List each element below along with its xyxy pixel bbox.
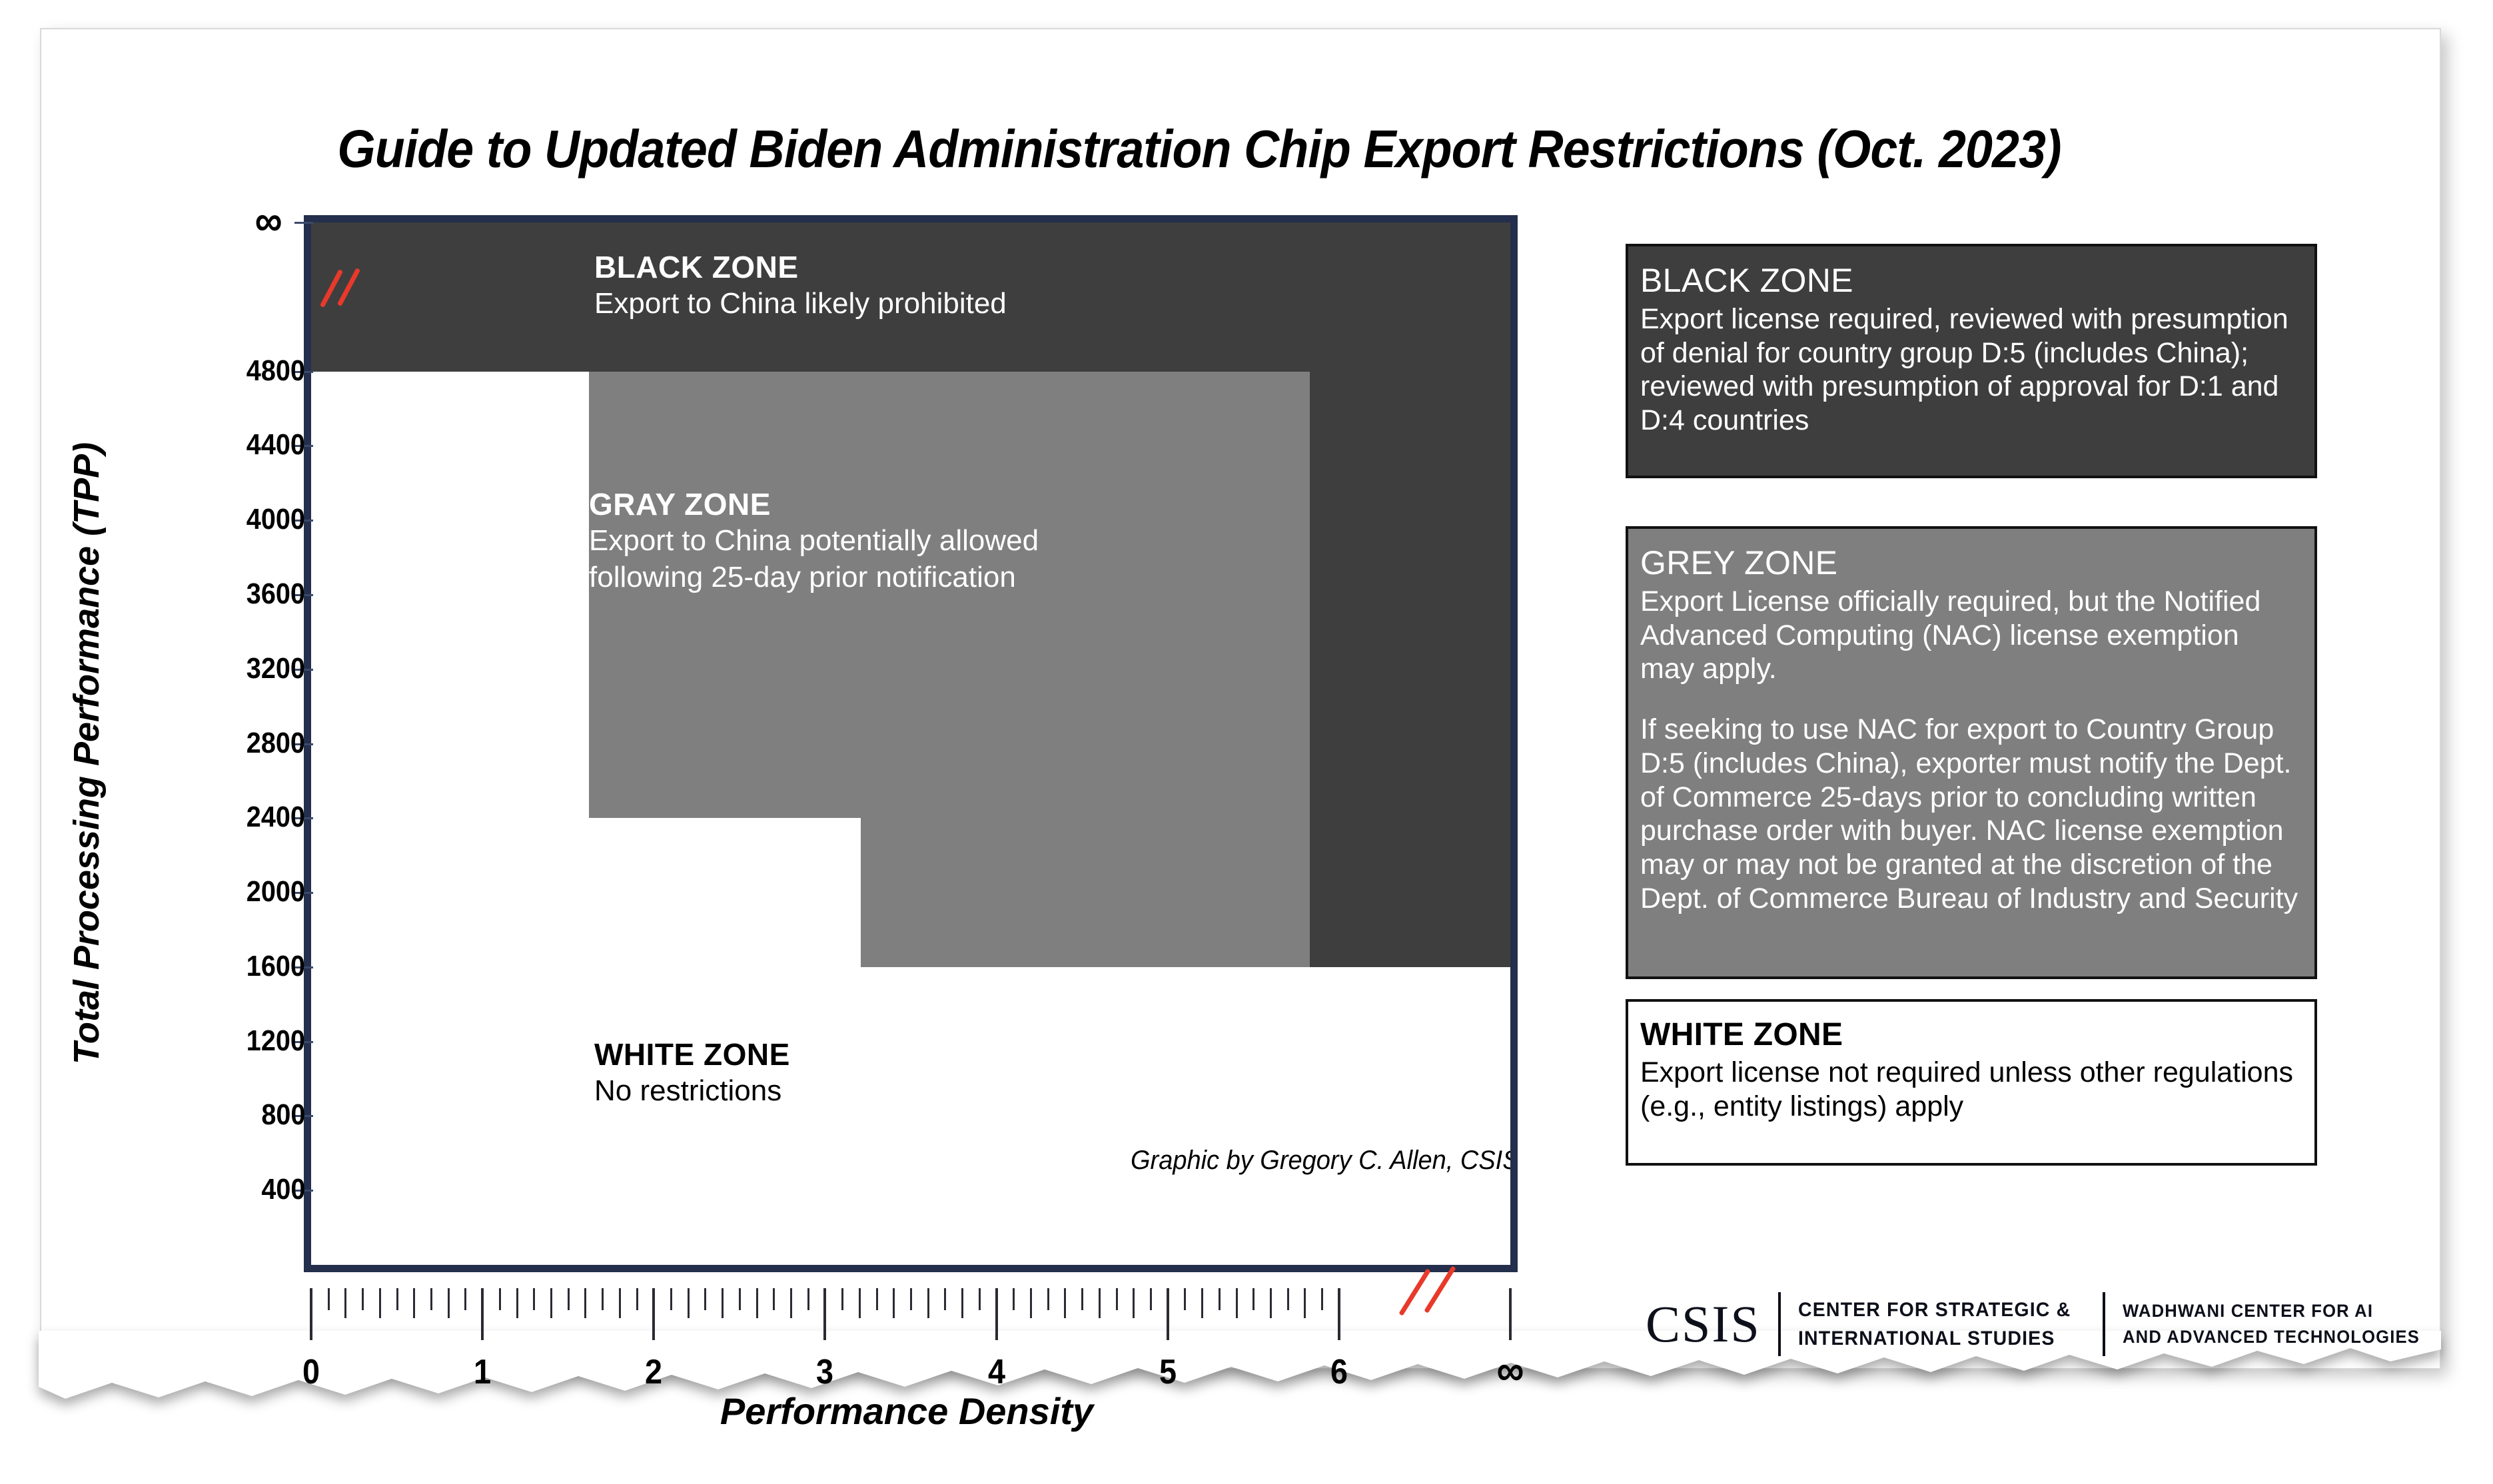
legend-card-white-zone: WHITE ZONE Export license not required u… [1626, 999, 2317, 1166]
x-minor-tick [550, 1288, 552, 1318]
x-minor-tick [636, 1288, 638, 1310]
poster-page: Guide to Updated Biden Administration Ch… [0, 0, 2493, 1484]
x-tick-label-infinity: ∞ [1496, 1345, 1524, 1395]
x-minor-tick [773, 1288, 775, 1310]
legend-card-grey-zone: GREY ZONE Export License officially requ… [1626, 526, 2317, 979]
zone-gray-text-line2: following 25-day prior notification [589, 559, 1039, 595]
y-tick-label: 2000 [247, 875, 305, 909]
y-tick-label: 3200 [247, 652, 305, 685]
x-tick-label: 0 [302, 1352, 320, 1392]
x-tick-label: 1 [474, 1352, 491, 1392]
y-tick-label: 400 [261, 1173, 305, 1206]
x-minor-tick [1081, 1288, 1083, 1310]
x-minor-tick [739, 1288, 741, 1310]
graphic-credit: Graphic by Gregory C. Allen, CSIS [1131, 1146, 1510, 1176]
x-minor-tick [979, 1288, 981, 1310]
x-minor-tick [670, 1288, 672, 1310]
x-minor-tick [1184, 1288, 1186, 1310]
y-tick-label: 4800 [247, 354, 305, 388]
legend-card-black-heading: BLACK ZONE [1640, 261, 2314, 300]
legend-card-grey-heading: GREY ZONE [1640, 544, 2314, 582]
csis-logo-line-1: CENTER FOR STRATEGIC & [1798, 1296, 2071, 1325]
x-tick-label: 2 [645, 1352, 662, 1392]
legend-card-black-body: Export license required, reviewed with p… [1640, 302, 2300, 438]
zone-label-gray: GRAY ZONE Export to China potentially al… [589, 486, 1039, 596]
x-tick-label: 6 [1330, 1352, 1348, 1392]
chart-zones-container: BLACK ZONE Export to China likely prohib… [311, 222, 1510, 1265]
x-minor-tick [344, 1288, 346, 1318]
y-tick-label-infinity: ∞ [255, 196, 282, 245]
zone-gray-heading: GRAY ZONE [589, 486, 1039, 522]
x-tick-label: 5 [1159, 1352, 1177, 1392]
x-minor-tick [516, 1288, 518, 1318]
x-minor-tick [1013, 1288, 1015, 1310]
x-minor-tick [807, 1288, 809, 1310]
legend-card-grey-body-1: Export License officially required, but … [1640, 585, 2300, 686]
y-axis: 4008001200160020002400280032003600400044… [0, 215, 313, 1281]
x-minor-tick [876, 1288, 878, 1310]
x-minor-tick [1201, 1288, 1203, 1318]
x-minor-tick [328, 1288, 330, 1310]
zone-black-heading: BLACK ZONE [594, 249, 1007, 285]
x-minor-tick [1099, 1288, 1101, 1318]
y-axis-label: Total Processing Performance (TPP) [66, 320, 107, 1186]
csis-logo-line-2: INTERNATIONAL STUDIES [1798, 1324, 2071, 1353]
x-minor-tick [1321, 1288, 1323, 1310]
legend-card-grey-body-2: If seeking to use NAC for export to Coun… [1640, 713, 2300, 915]
x-minor-tick [568, 1288, 570, 1310]
y-tick-label: 4400 [247, 428, 305, 462]
legend-card-white-body: Export license not required unless other… [1640, 1056, 2300, 1123]
x-minor-tick [841, 1288, 843, 1310]
y-tick-label: 3600 [247, 577, 305, 611]
csis-logo-name-block: CENTER FOR STRATEGIC & INTERNATIONAL STU… [1798, 1296, 2085, 1353]
x-minor-tick [1252, 1288, 1254, 1310]
x-major-tick [823, 1288, 826, 1340]
x-axis-label: Performance Density [304, 1389, 1510, 1433]
zone-label-white: WHITE ZONE No restrictions [594, 1036, 790, 1109]
x-minor-tick [602, 1288, 604, 1310]
logo-divider-2 [2103, 1292, 2105, 1356]
x-minor-tick [961, 1288, 963, 1318]
x-minor-tick [1064, 1288, 1066, 1318]
x-minor-tick [1116, 1288, 1118, 1310]
x-minor-tick [910, 1288, 912, 1310]
zone-region-gray-zone-1 [861, 818, 1310, 967]
x-minor-tick [584, 1288, 586, 1318]
chart-plot-area: BLACK ZONE Export to China likely prohib… [304, 215, 1518, 1272]
zone-black-text: Export to China likely prohibited [594, 285, 1007, 322]
x-minor-tick [499, 1288, 501, 1310]
x-minor-tick [1287, 1288, 1289, 1310]
zone-gray-text-line1: Export to China potentially allowed [589, 522, 1039, 559]
wadhwani-center-block: WADHWANI CENTER FOR AI AND ADVANCED TECH… [2123, 1298, 2436, 1350]
csis-logo-acronym: CSIS [1646, 1298, 1761, 1350]
x-minor-tick [1236, 1288, 1238, 1318]
x-minor-tick [756, 1288, 758, 1318]
x-minor-tick [1047, 1288, 1049, 1310]
y-tick-label: 2800 [247, 727, 305, 760]
y-tick-label: 1600 [247, 950, 305, 983]
x-minor-tick [944, 1288, 946, 1310]
x-minor-tick [893, 1288, 895, 1318]
x-major-tick [1167, 1288, 1169, 1340]
x-major-tick [310, 1288, 312, 1340]
x-minor-tick [396, 1288, 398, 1310]
x-minor-tick [704, 1288, 706, 1310]
wadhwani-logo-line-1: WADHWANI CENTER FOR AI [2123, 1298, 2420, 1324]
x-tick-label: 3 [816, 1352, 833, 1392]
x-major-tick [652, 1288, 655, 1340]
x-major-tick [481, 1288, 484, 1340]
x-minor-tick [1304, 1288, 1306, 1318]
y-tick-label: 2400 [247, 801, 305, 834]
zone-white-heading: WHITE ZONE [594, 1036, 790, 1072]
x-tick-label: 4 [988, 1352, 1005, 1392]
x-minor-tick [362, 1288, 364, 1310]
x-minor-tick [722, 1288, 724, 1318]
x-minor-tick [1030, 1288, 1032, 1318]
x-minor-tick [430, 1288, 432, 1310]
page-title: Guide to Updated Biden Administration Ch… [96, 119, 2302, 180]
x-minor-tick [379, 1288, 381, 1318]
x-minor-tick [1133, 1288, 1135, 1318]
x-minor-tick [1270, 1288, 1272, 1318]
logo-divider-1 [1778, 1292, 1781, 1356]
x-minor-tick [464, 1288, 466, 1310]
x-major-tick [995, 1288, 998, 1340]
x-axis-break-mark [1406, 1263, 1479, 1324]
csis-logo: CSIS CENTER FOR STRATEGIC & INTERNATIONA… [1646, 1284, 2435, 1364]
x-minor-tick [619, 1288, 621, 1318]
x-minor-tick [1219, 1288, 1221, 1310]
y-axis-break-mark [324, 266, 370, 317]
y-tick-label: 800 [261, 1098, 305, 1132]
x-minor-tick [859, 1288, 861, 1318]
x-minor-tick [533, 1288, 535, 1310]
zone-white-text: No restrictions [594, 1072, 790, 1109]
legend-card-black-zone: BLACK ZONE Export license required, revi… [1626, 244, 2317, 478]
y-tick-label: 4000 [247, 503, 305, 536]
x-minor-tick [448, 1288, 450, 1318]
y-tick-line [294, 222, 313, 224]
zone-region-black-zone-1 [1310, 372, 1510, 967]
x-major-tick [1509, 1288, 1512, 1340]
zone-label-black: BLACK ZONE Export to China likely prohib… [594, 249, 1007, 322]
wadhwani-logo-line-2: AND ADVANCED TECHNOLOGIES [2123, 1324, 2420, 1350]
legend-card-white-heading: WHITE ZONE [1640, 1016, 2314, 1053]
x-minor-tick [688, 1288, 690, 1318]
x-major-tick [1338, 1288, 1340, 1340]
x-minor-tick [1150, 1288, 1152, 1310]
x-minor-tick [790, 1288, 792, 1318]
x-minor-tick [413, 1288, 415, 1318]
y-tick-label: 1200 [247, 1024, 305, 1058]
x-minor-tick [927, 1288, 929, 1318]
